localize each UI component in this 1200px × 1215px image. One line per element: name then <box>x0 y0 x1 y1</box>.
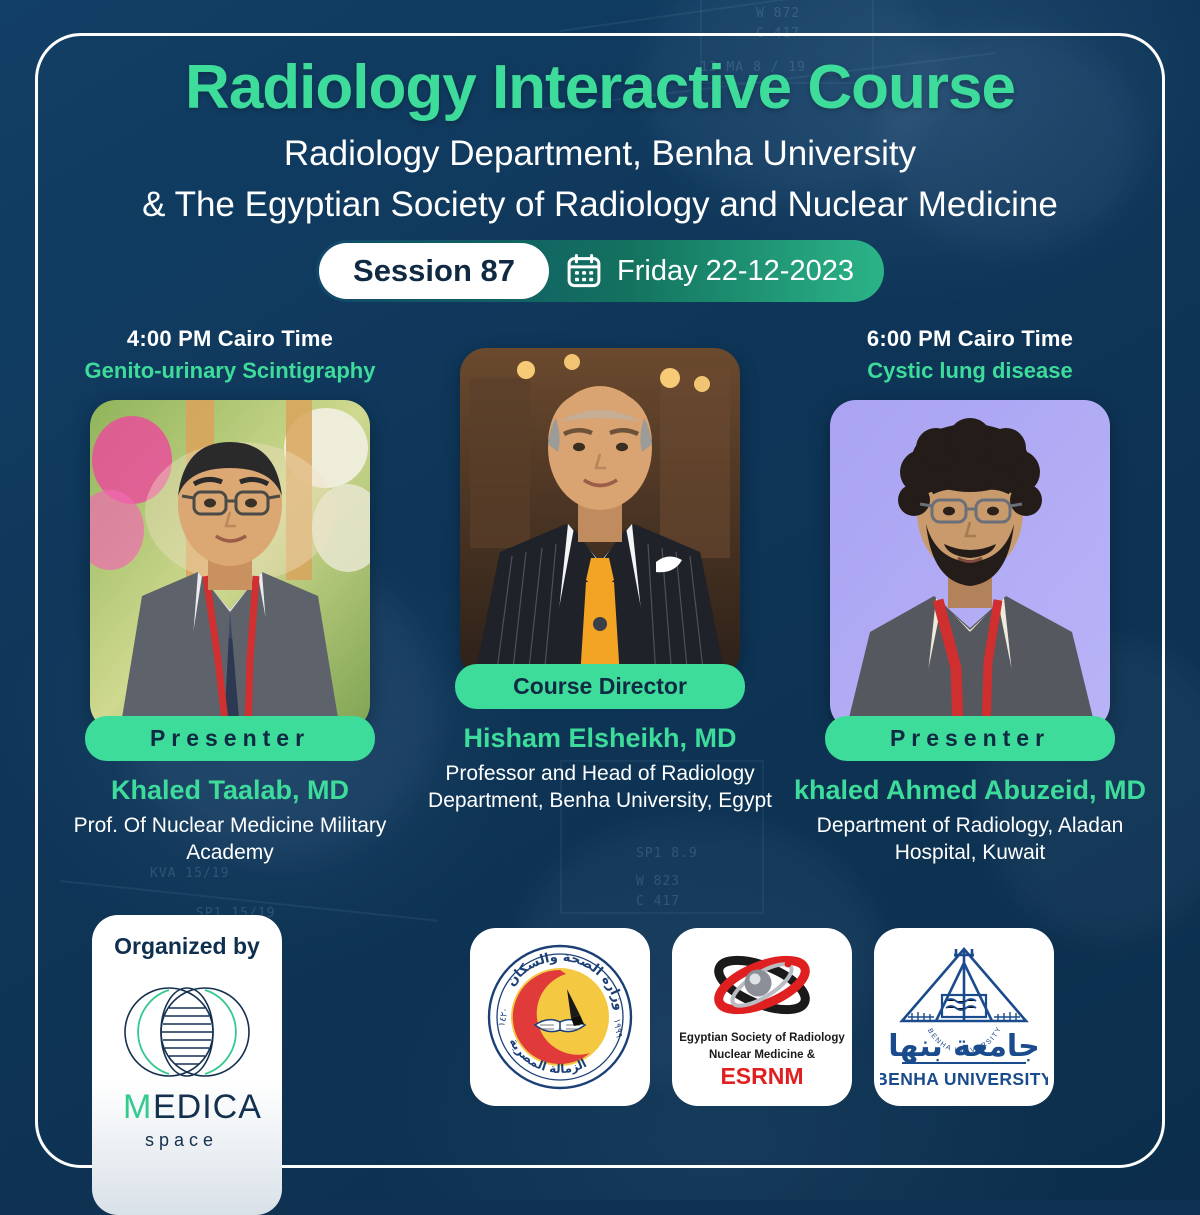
speaker-3-photo <box>830 400 1110 730</box>
subtitle-line-1: Radiology Department, Benha University <box>0 134 1200 174</box>
svg-text:M: M <box>123 1088 152 1126</box>
benha-arabic-name: جامعة بنها <box>888 1029 1040 1064</box>
speaker-3-affiliation: Department of Radiology, Aladan Hospital… <box>795 812 1145 867</box>
partner-logos: وزارة الصحة والسكان الزمالة المصرية ١٤٢٠… <box>470 928 1054 1106</box>
esrnm-line2: Nuclear Medicine & <box>709 1049 815 1061</box>
logo-egyptian-ministry-of-health: وزارة الصحة والسكان الزمالة المصرية ١٤٢٠… <box>470 928 650 1106</box>
speaker-2-role-badge: Course Director <box>455 664 745 709</box>
speaker-2-name: Hisham Elsheikh, MD <box>463 723 736 754</box>
ministry-seal-icon: وزارة الصحة والسكان الزمالة المصرية ١٤٢٠… <box>478 935 643 1100</box>
speaker-2-affiliation: Professor and Head of Radiology Departme… <box>425 760 775 815</box>
speaker-3-role-badge: Presenter <box>825 716 1115 761</box>
svg-text:space: space <box>145 1130 218 1150</box>
speaker-1-affiliation: Prof. Of Nuclear Medicine Military Acade… <box>55 812 405 867</box>
esrnm-acronym: ESRNM <box>720 1063 803 1089</box>
speaker-1-photo <box>90 400 370 730</box>
logo-benha-university: BENHA UNIVERSITY جامعة بنها BENHA UNIVER… <box>874 928 1054 1106</box>
poster-canvas: W 872 C 417 12 MA 8 / 19 SP1 15/19 SP1 8… <box>0 0 1200 1200</box>
session-date-text: Friday 22-12-2023 <box>617 255 854 288</box>
badge-inner: Session 87 Friday 22-12-2023 <box>316 240 884 302</box>
speaker-3-time: 6:00 PM Cairo Time <box>867 326 1073 352</box>
organizer-card: Organized by M EDICA space <box>92 915 282 1215</box>
speaker-1-time: 4:00 PM Cairo Time <box>127 326 333 352</box>
svg-text:١٤٢٠: ١٤٢٠ <box>497 1006 511 1027</box>
svg-text:EDICA: EDICA <box>153 1088 262 1126</box>
subtitle-line-2: & The Egyptian Society of Radiology and … <box>0 185 1200 225</box>
organized-by-label: Organized by <box>114 933 260 960</box>
speaker-1-name: Khaled Taalab, MD <box>111 775 349 806</box>
svg-text:١٩٩٩: ١٩٩٩ <box>611 1018 624 1039</box>
speaker-3-name: khaled Ahmed Abuzeid, MD <box>794 775 1146 806</box>
speaker-2-photo <box>460 348 740 678</box>
session-number-pill: Session 87 <box>319 243 549 299</box>
speaker-card-3: 6:00 PM Cairo Time Cystic lung disease <box>785 326 1155 867</box>
session-date-badge: Session 87 Friday 22-12-2023 <box>0 240 1200 302</box>
speaker-1-topic: Genito-urinary Scintigraphy <box>85 358 376 384</box>
page-title: Radiology Interactive Course <box>0 52 1200 123</box>
medica-space-logo: M EDICA space <box>107 966 267 1171</box>
esrnm-line1: Egyptian Society of Radiology <box>679 1032 845 1044</box>
benha-university-emblem-icon: BENHA UNIVERSITY جامعة بنها BENHA UNIVER… <box>880 937 1048 1097</box>
speaker-card-2: Course Director Hisham Elsheikh, MD Prof… <box>415 326 785 867</box>
esrnm-atom-icon: Egyptian Society of Radiology Nuclear Me… <box>678 937 846 1097</box>
logo-esrnm: Egyptian Society of Radiology Nuclear Me… <box>672 928 852 1106</box>
speaker-1-role-badge: Presenter <box>85 716 375 761</box>
speaker-3-topic: Cystic lung disease <box>867 358 1072 384</box>
speakers-row: 4:00 PM Cairo Time Genito-urinary Scinti… <box>45 326 1155 867</box>
speaker-card-1: 4:00 PM Cairo Time Genito-urinary Scinti… <box>45 326 415 867</box>
calendar-icon <box>565 252 603 290</box>
benha-english-name: BENHA UNIVERSITY <box>880 1069 1048 1089</box>
